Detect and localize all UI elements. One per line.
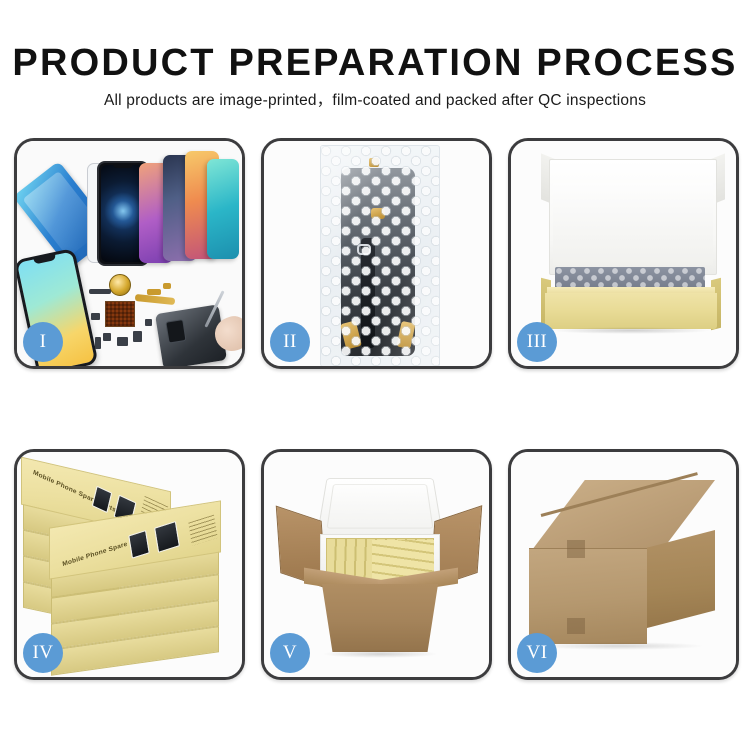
small-part-graphic-4 — [133, 331, 142, 342]
step-panel-3: III — [508, 138, 739, 369]
carton-tab-graphic-1 — [567, 540, 585, 558]
foam-sheet-graphic — [553, 183, 713, 265]
step-panel-2: II — [261, 138, 492, 369]
gold-connector-graphic-2 — [163, 283, 171, 289]
step-panel-5: V — [261, 449, 492, 680]
box-phone-image-front-2 — [154, 521, 180, 553]
battery-part-graphic — [89, 289, 111, 294]
bubble-wrap-bag-graphic — [320, 145, 440, 366]
step-badge-5: V — [270, 633, 310, 673]
step-panel-6: VI — [508, 449, 739, 680]
speaker-coil-part-graphic — [109, 274, 131, 296]
small-part-graphic-5 — [95, 337, 101, 349]
small-part-graphic-2 — [103, 333, 111, 341]
plastic-sheen-graphic — [321, 146, 439, 366]
header: PRODUCT PREPARATION PROCESS All products… — [0, 0, 750, 130]
carton-front-graphic — [529, 548, 647, 644]
phone-notch-graphic — [113, 163, 133, 168]
step-badge-3: III — [517, 322, 557, 362]
carton-body-graphic — [314, 584, 446, 652]
page-title: PRODUCT PREPARATION PROCESS — [0, 42, 750, 85]
drop-shadow-graphic — [551, 327, 711, 334]
step-badge-4: IV — [23, 633, 63, 673]
phone-back-graphic-d — [207, 159, 239, 259]
chip-grid-part-graphic — [105, 301, 135, 327]
drop-shadow-graphic — [535, 642, 705, 650]
small-part-graphic-1 — [91, 313, 100, 320]
carton-tab-graphic-2 — [567, 618, 585, 634]
gold-connector-graphic-1 — [147, 289, 161, 295]
box-spec-lines-front — [188, 515, 217, 546]
small-part-graphic-6 — [145, 319, 152, 326]
step-badge-2: II — [270, 322, 310, 362]
step-badge-1: I — [23, 322, 63, 362]
step-panel-4: Mobile Phone Spare Parts Mobile Phone Sp… — [14, 449, 245, 680]
page-subtitle: All products are image-printed，film-coat… — [0, 88, 750, 110]
process-steps-grid: I II — [14, 138, 738, 680]
drop-shadow-graphic — [322, 650, 438, 658]
box-phone-image-front-1 — [128, 530, 150, 559]
step-panel-1: I — [14, 138, 245, 369]
step-badge-6: VI — [517, 633, 557, 673]
foam-lid-open-graphic — [317, 478, 444, 537]
small-part-graphic-3 — [117, 337, 128, 346]
inner-box-front-graphic — [545, 293, 717, 329]
infographic-page: PRODUCT PREPARATION PROCESS All products… — [0, 0, 750, 750]
